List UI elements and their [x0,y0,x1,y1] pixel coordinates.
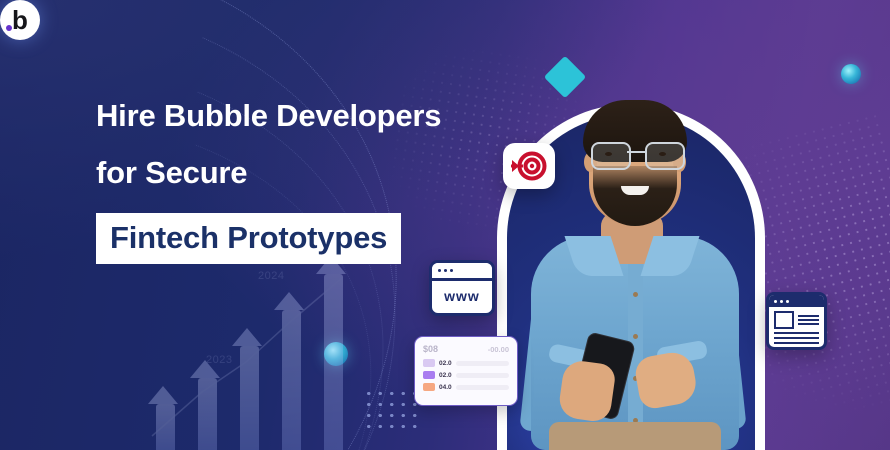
stats-card-header: $08 -00.00 [423,344,509,354]
stats-row: 04.0 [423,383,509,391]
window-dot-icon [786,300,789,303]
trousers [549,422,721,450]
window-dot-icon [444,269,447,272]
article-titlebar [769,295,824,307]
stats-swatch [423,371,435,379]
bubble-logo-dot [6,25,12,31]
headline-line-1: Hire Bubble Developers [96,100,516,133]
hand-left [557,359,617,424]
stats-amount: $08 [423,344,438,354]
stats-card[interactable]: $08 -00.00 02.0 02.0 04.0 [414,336,518,406]
stats-row-value: 02.0 [439,360,452,367]
hero-photo-alt: smiling-man-with-glasses-holding-phone [497,86,498,87]
background-growth-chart: 2023 2024 [150,260,380,450]
glow-sphere-shape [841,64,861,84]
eyeglasses-icon [589,142,683,166]
hero-banner: 2023 2024 Hire Bubble Developers for Sec… [0,0,890,450]
window-dot-icon [774,300,777,303]
target-badge[interactable] [503,143,555,189]
stats-row-track [456,373,509,378]
headline-highlight: Fintech Prototypes [96,213,401,264]
stats-swatch [423,359,435,367]
stats-row-track [456,385,509,390]
hero-photo: smiling-man-with-glasses-holding-phone [497,86,765,450]
stats-row: 02.0 [423,359,509,367]
article-layout-icon [769,307,824,348]
browser-titlebar [432,263,492,281]
bubble-logo-letter: b [12,5,28,35]
stats-row-value: 04.0 [439,384,452,391]
stats-change: -00.00 [488,345,509,354]
stats-row: 02.0 [423,371,509,379]
browser-www-badge[interactable]: www [429,260,495,316]
glow-sphere-shape [324,342,348,366]
headline-block: Hire Bubble Developers for Secure Fintec… [96,100,516,264]
chart-year-label: 2024 [258,270,284,282]
window-dot-icon [450,269,453,272]
stats-row-value: 02.0 [439,372,452,379]
stats-swatch [423,383,435,391]
chart-year-label: 2023 [206,354,232,366]
bubble-logo-badge[interactable]: b [0,0,40,40]
stats-row-track [456,361,509,366]
window-dot-icon [780,300,783,303]
target-bullseye-icon [509,151,549,181]
window-dot-icon [438,269,441,272]
headline-line-2: for Secure [96,157,516,190]
dot-grid-pattern [363,388,419,432]
bubble-logo-icon: b [12,7,28,33]
www-label: www [432,281,492,310]
article-badge[interactable] [766,292,827,350]
